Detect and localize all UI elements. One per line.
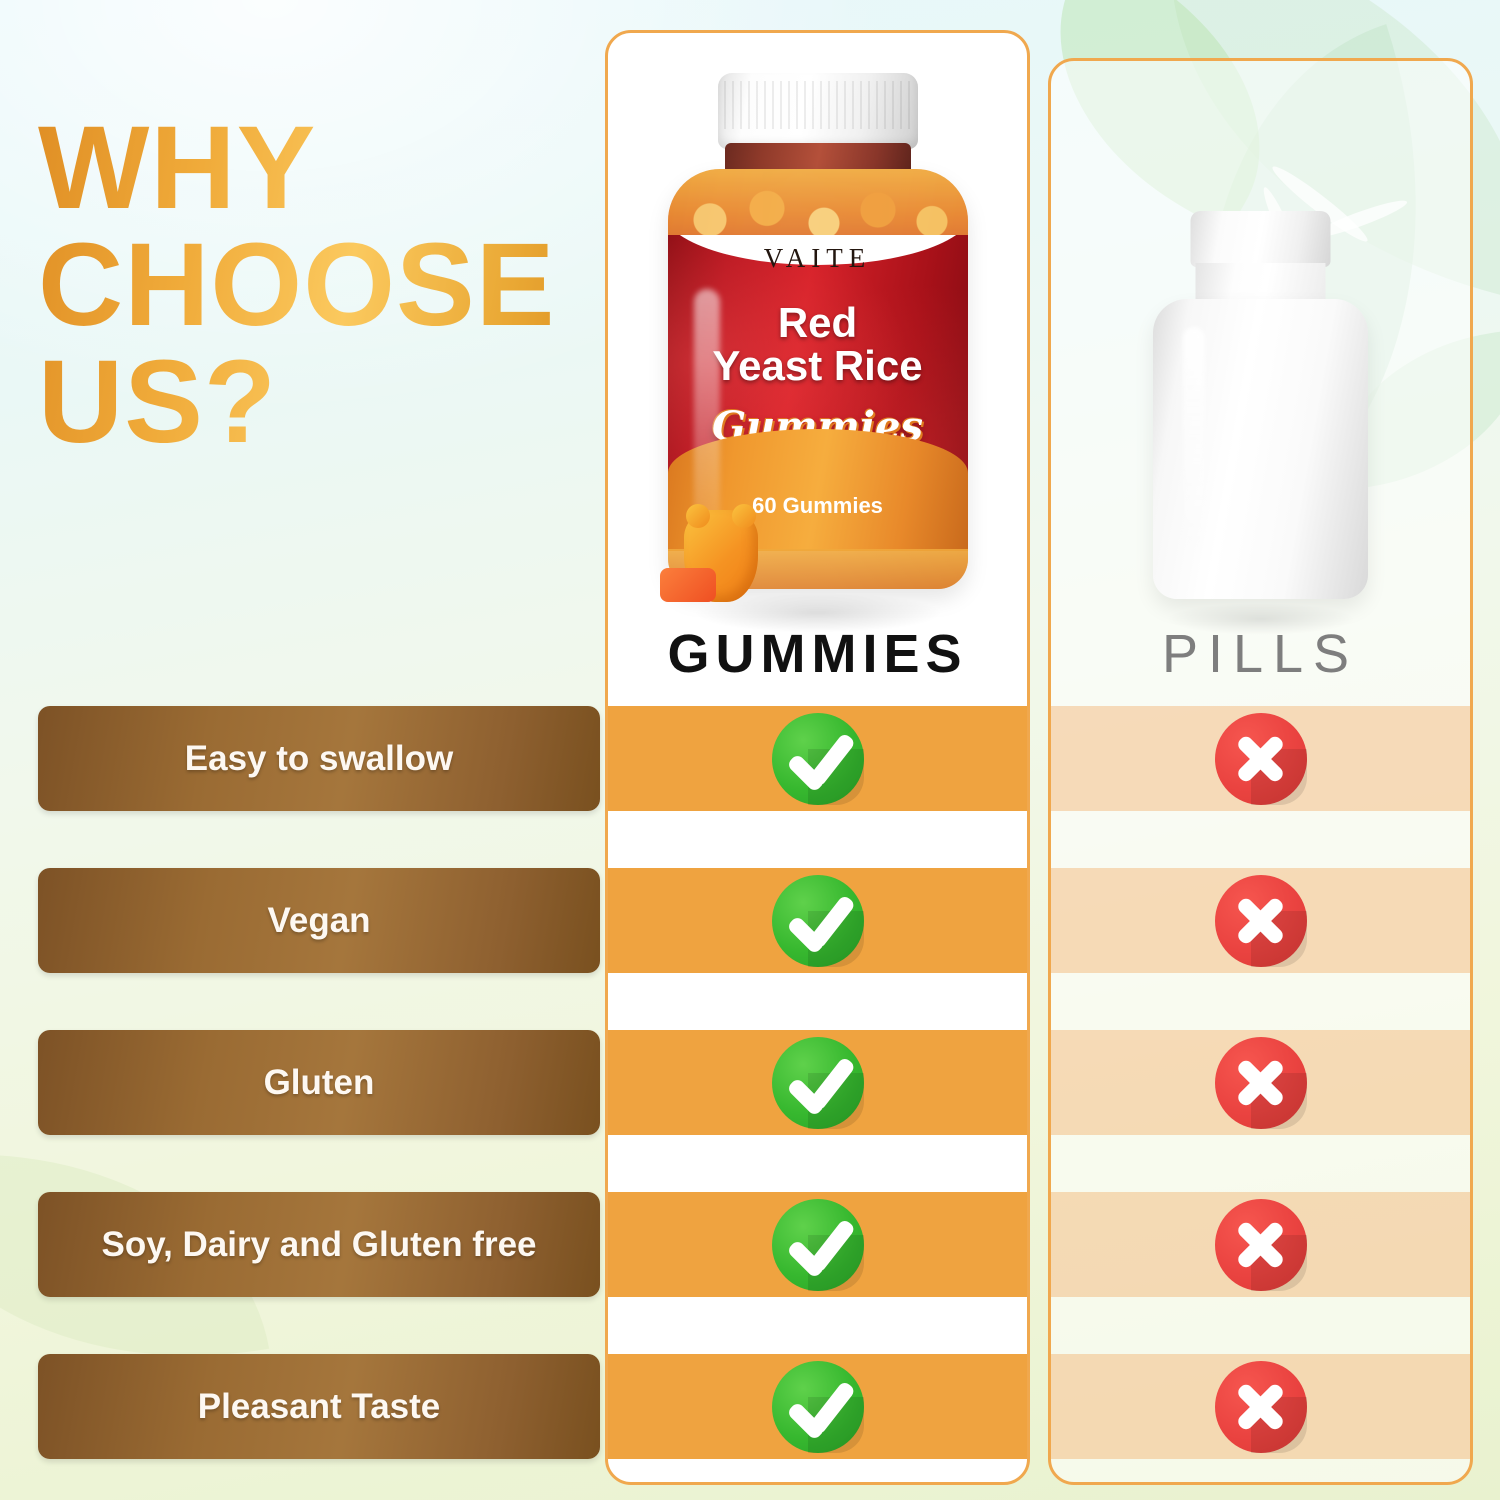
check-icon bbox=[772, 713, 864, 805]
pills-cell bbox=[1051, 706, 1470, 811]
feature-label: Pleasant Taste bbox=[198, 1387, 441, 1427]
gummies-cell bbox=[608, 1192, 1027, 1297]
table-row: Pleasant Taste bbox=[0, 1354, 1500, 1459]
feature-label-pill: Gluten bbox=[38, 1030, 600, 1135]
pills-cell bbox=[1051, 1354, 1470, 1459]
pills-cell bbox=[1051, 1030, 1470, 1135]
check-icon bbox=[772, 1361, 864, 1453]
feature-label: Easy to swallow bbox=[185, 739, 453, 779]
feature-label: Gluten bbox=[264, 1063, 375, 1103]
gummies-cell bbox=[608, 1354, 1027, 1459]
feature-label: Vegan bbox=[267, 901, 370, 941]
feature-label: Soy, Dairy and Gluten free bbox=[101, 1225, 536, 1265]
check-icon bbox=[772, 1037, 864, 1129]
cross-icon bbox=[1215, 713, 1307, 805]
gummies-cell bbox=[608, 706, 1027, 811]
check-icon bbox=[772, 1199, 864, 1291]
gummies-cell bbox=[608, 868, 1027, 973]
table-row: Vegan bbox=[0, 868, 1500, 973]
pills-cell bbox=[1051, 1192, 1470, 1297]
table-row: Easy to swallow bbox=[0, 706, 1500, 811]
table-row: Soy, Dairy and Gluten free bbox=[0, 1192, 1500, 1297]
cross-icon bbox=[1215, 1199, 1307, 1291]
feature-label-pill: Easy to swallow bbox=[38, 706, 600, 811]
feature-label-pill: Soy, Dairy and Gluten free bbox=[38, 1192, 600, 1297]
cross-icon bbox=[1215, 875, 1307, 967]
comparison-table: Easy to swallowVeganGlutenSoy, Dairy and… bbox=[0, 0, 1500, 1500]
check-icon bbox=[772, 875, 864, 967]
cross-icon bbox=[1215, 1361, 1307, 1453]
feature-label-pill: Vegan bbox=[38, 868, 600, 973]
pills-cell bbox=[1051, 868, 1470, 973]
table-row: Gluten bbox=[0, 1030, 1500, 1135]
cross-icon bbox=[1215, 1037, 1307, 1129]
feature-label-pill: Pleasant Taste bbox=[38, 1354, 600, 1459]
gummies-cell bbox=[608, 1030, 1027, 1135]
